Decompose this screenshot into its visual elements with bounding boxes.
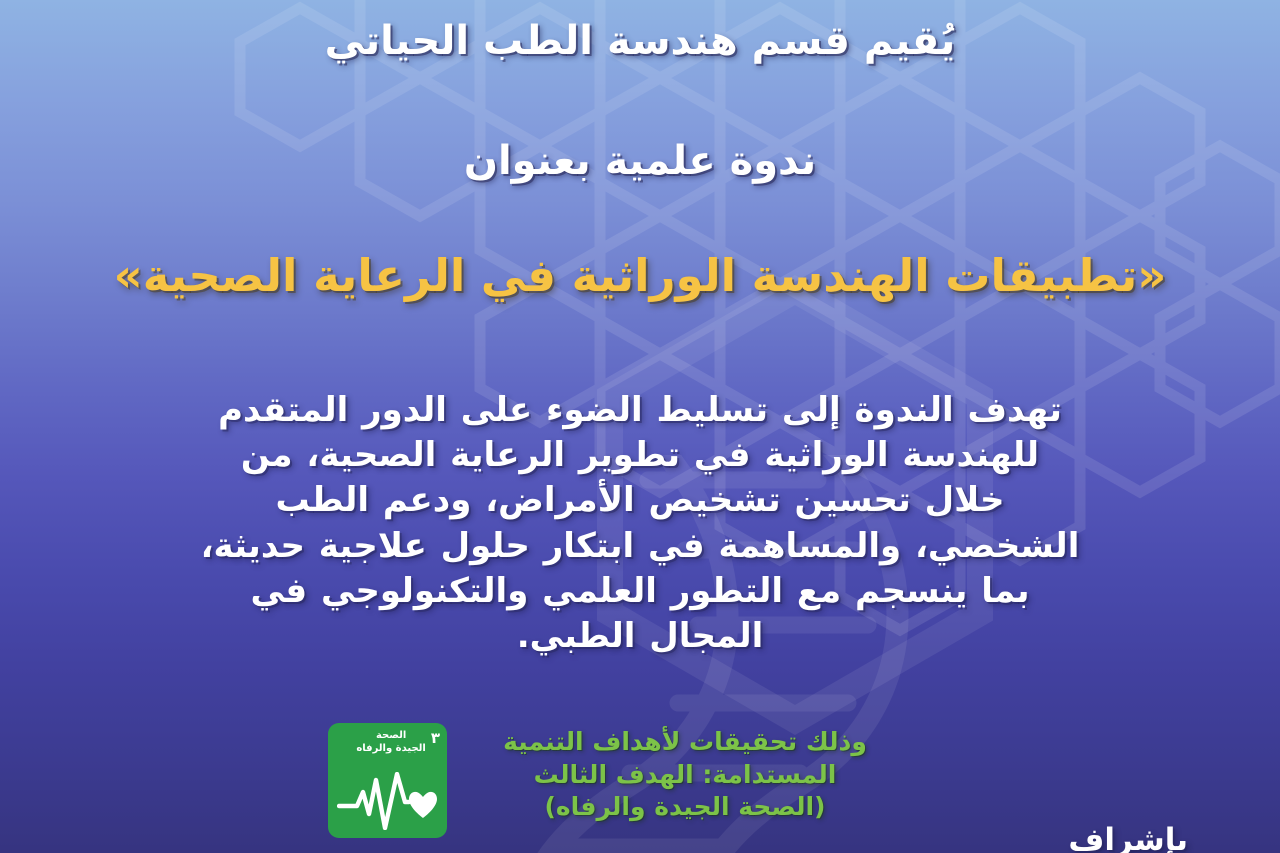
sdg-goal-name: الصحة الجيدة والرفاه: [356, 730, 425, 755]
sdg-goal-number: ٣: [431, 730, 440, 746]
sdg-caption-text: وذلك تحقيقات لأهداف التنمية المستدامة: ا…: [490, 726, 880, 824]
seminar-poster: يُقيم قسم هندسة الطب الحياتي ندوة علمية …: [0, 0, 1280, 853]
headline-event-type: ندوة علمية بعنوان: [0, 136, 1280, 186]
headline-organizer: يُقيم قسم هندسة الطب الحياتي: [0, 16, 1280, 66]
sdg-section: وذلك تحقيقات لأهداف التنمية المستدامة: ا…: [340, 720, 880, 845]
supervision-label: بإشراف: [1068, 822, 1188, 853]
ecg-heartbeat-heart-icon: [337, 772, 438, 830]
seminar-description-paragraph: تهدف الندوة إلى تسليط الضوء على الدور ال…: [195, 388, 1085, 659]
seminar-title: «تطبيقات الهندسة الوراثية في الرعاية الص…: [0, 248, 1280, 304]
sdg-logo-header: ٣ الصحة الجيدة والرفاه: [356, 730, 440, 755]
sdg-goal-3-logo: ٣ الصحة الجيدة والرفاه: [328, 723, 447, 838]
